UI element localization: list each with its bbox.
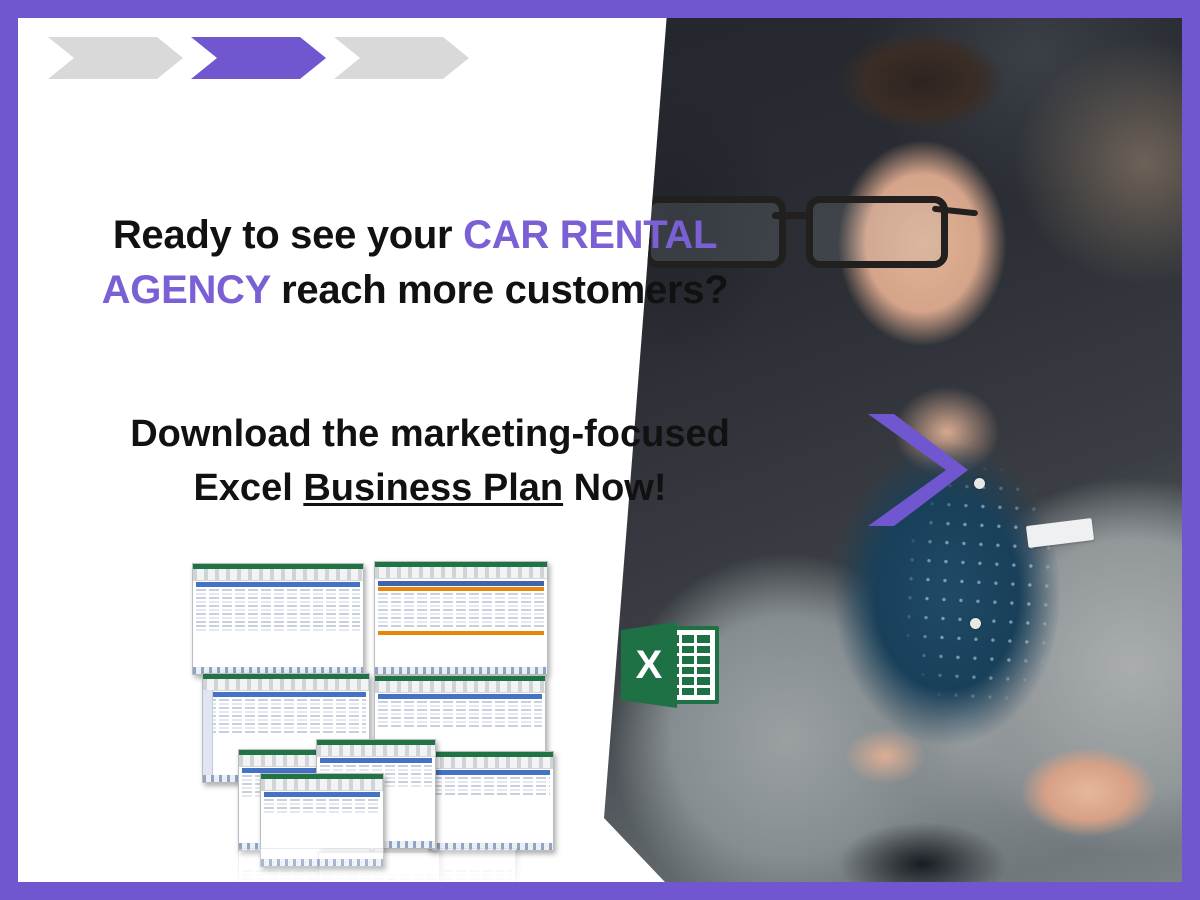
excel-icon: X	[621, 622, 719, 708]
progress-step-chevrons	[48, 37, 469, 79]
headline-part2: reach more customers?	[270, 268, 728, 312]
headline-block: Ready to see your CAR RENTAL AGENCY reac…	[90, 208, 740, 318]
ad-canvas: Ready to see your CAR RENTAL AGENCY reac…	[18, 18, 1182, 882]
sheet-reflection	[318, 852, 440, 882]
excel-letter: X	[621, 622, 677, 708]
step-chevron-2[interactable]	[191, 37, 326, 79]
cta-line2-post: Now!	[563, 467, 666, 509]
shirt-button	[970, 618, 981, 629]
sheet-thumbnail[interactable]	[374, 561, 548, 675]
cta-line2-underlined: Business Plan	[303, 467, 563, 509]
cta-line-2: Excel Business Plan Now!	[90, 462, 770, 516]
headline-part1: Ready to see your	[113, 213, 463, 257]
collage-reflection	[178, 848, 578, 882]
ad-banner: Ready to see your CAR RENTAL AGENCY reac…	[0, 0, 1200, 900]
step-chevron-1[interactable]	[48, 37, 183, 79]
shirt-button	[974, 478, 985, 489]
cta-block: Download the marketing-focused Excel Bus…	[90, 408, 770, 516]
page-title: Ready to see your CAR RENTAL AGENCY reac…	[90, 208, 740, 318]
sheet-thumbnail[interactable]	[192, 563, 364, 675]
cta-line2-pre: Excel	[193, 467, 303, 509]
sheet-thumbnail[interactable]	[428, 751, 554, 851]
step-chevron-3[interactable]	[334, 37, 469, 79]
cta-line-1: Download the marketing-focused	[90, 408, 770, 462]
excel-spreadsheet-thumbnails	[178, 543, 578, 882]
